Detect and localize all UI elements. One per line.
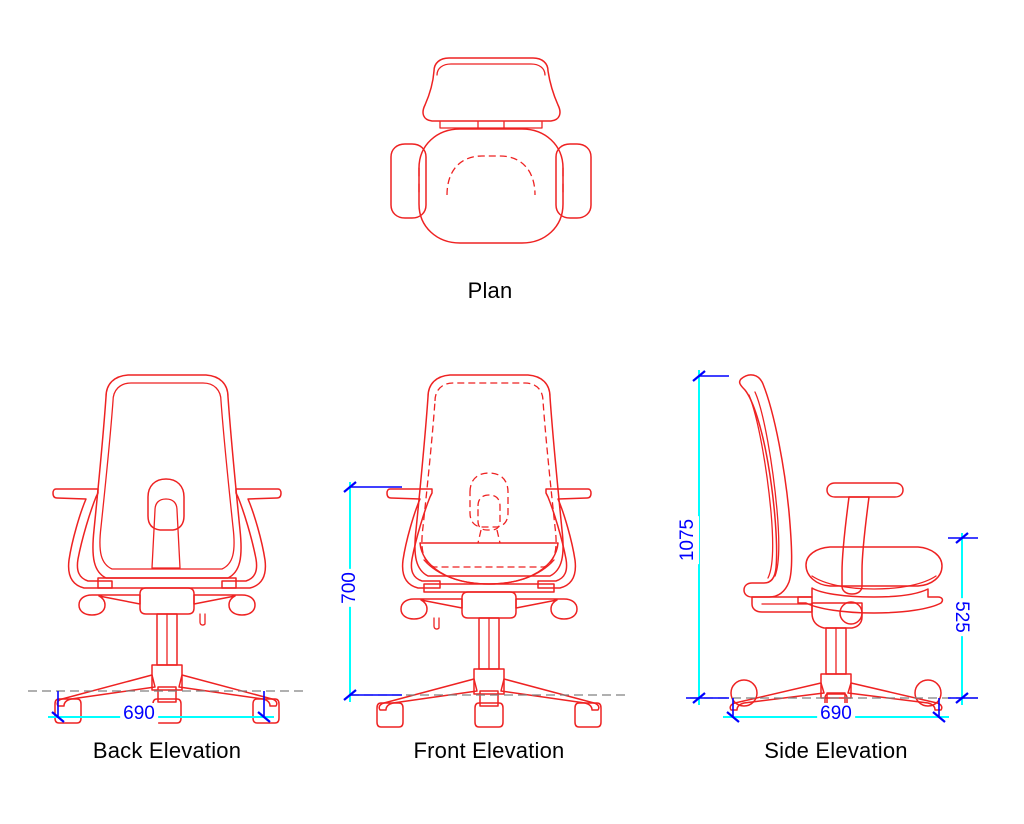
technical-drawing-sheet: .geo { fill:none; stroke:#ee2222; stroke… <box>0 0 1024 824</box>
front-backrest-hidden-frame <box>422 383 556 567</box>
back-lever-tab <box>200 614 205 625</box>
front-armrest-left <box>387 489 440 588</box>
front-lever-tab <box>434 618 439 629</box>
side-seat-pan <box>798 588 942 613</box>
back-backrest-outer <box>93 375 241 578</box>
plan-backrest-outline <box>423 58 560 121</box>
side-seat-cushion-front-line <box>812 576 936 589</box>
front-lumbar-hidden-inner <box>478 495 500 530</box>
front-caster-right <box>575 703 601 727</box>
plan-view-geometry <box>391 58 591 243</box>
front-lever-left <box>401 599 462 619</box>
back-seat-mechanism <box>140 588 194 614</box>
back-lumbar-outer <box>148 479 184 530</box>
front-armrest-right <box>538 489 591 588</box>
view-label-front-elevation: Front Elevation <box>414 738 565 764</box>
dimension-text-side-base-width: 690 <box>817 703 855 725</box>
front-lumbar-hidden-outer <box>470 473 508 527</box>
back-backrest-inner <box>100 383 234 569</box>
view-label-plan: Plan <box>468 278 513 304</box>
side-seat-cushion <box>806 547 942 586</box>
front-caster-left <box>377 703 403 727</box>
front-seat-mechanism <box>462 592 516 618</box>
side-backrest-inner-line-b <box>749 395 773 578</box>
front-lever-right <box>516 599 577 619</box>
front-elevation-geometry <box>350 375 628 727</box>
dimension-text-back-width: 690 <box>120 703 158 725</box>
plan-seat-hidden-arc <box>447 156 535 195</box>
plan-seat-outline <box>419 129 563 243</box>
dimension-text-side-overall-height: 1075 <box>677 516 699 564</box>
view-label-back-elevation: Back Elevation <box>93 738 241 764</box>
side-armrest-post <box>842 497 869 594</box>
side-caster-right <box>915 680 941 706</box>
side-backrest-outer <box>740 375 792 597</box>
side-elevation-geometry <box>690 375 978 710</box>
plan-backrest-connector <box>440 122 542 128</box>
side-tilt-mechanism <box>812 603 862 628</box>
dimension-text-front-seat-height: 700 <box>339 569 361 607</box>
back-elevation-geometry <box>28 375 306 723</box>
back-lumbar-stem <box>152 499 180 568</box>
plan-backrest-inner-line <box>437 64 545 75</box>
back-lever-left <box>79 595 140 615</box>
view-label-side-elevation: Side Elevation <box>764 738 907 764</box>
side-caster-left <box>731 680 757 706</box>
front-underseat-shell <box>424 584 554 592</box>
front-seat-cushion-line <box>424 560 554 584</box>
back-lever-right <box>194 595 255 615</box>
side-armrest-pad <box>827 483 903 497</box>
back-seat-shell <box>98 578 236 588</box>
front-lumbar-stem-right <box>497 530 500 543</box>
front-seat-cushion <box>420 543 558 584</box>
front-backrest-outer <box>415 375 563 576</box>
dimension-text-side-seat-height: 525 <box>950 598 972 636</box>
back-caster-left <box>55 699 81 723</box>
front-lumbar-stem-left <box>478 530 481 543</box>
